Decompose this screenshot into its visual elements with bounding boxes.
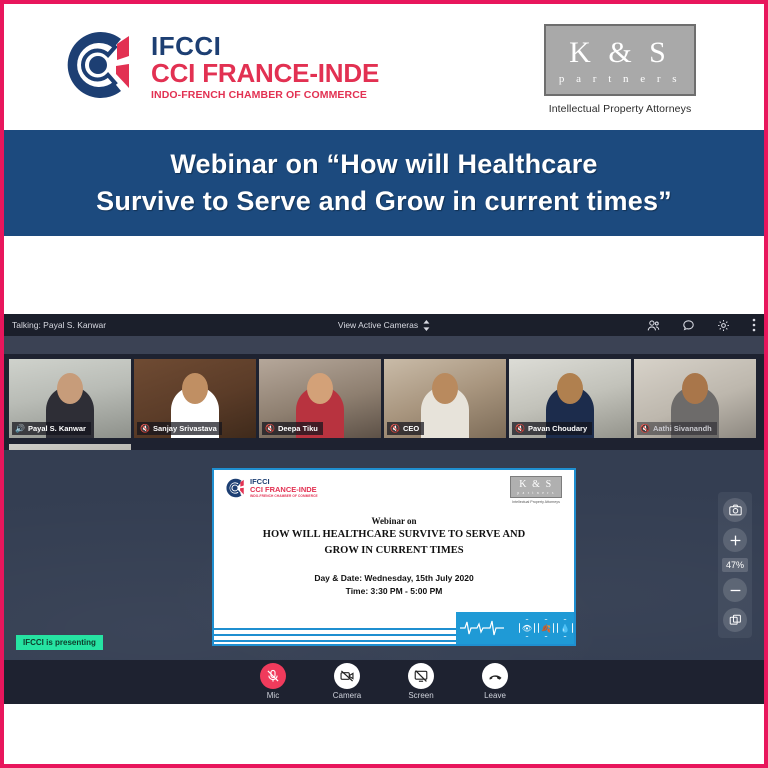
- zoom-level-label: 47%: [722, 558, 748, 572]
- slide-ifcci-circle-logo-icon: [224, 477, 246, 499]
- participant-name-tag-2: 🔇 Deepa Tiku: [262, 422, 323, 435]
- ifcci-circle-logo-icon: [59, 26, 137, 104]
- participant-tile-3[interactable]: 🔇 CEO: [384, 359, 506, 438]
- ifcci-line2: CCI FRANCE-INDE: [151, 60, 379, 87]
- ifcci-logo: IFCCI CCI FRANCE-INDE INDO-FRENCH CHAMBE…: [59, 26, 379, 104]
- participant-tile-2[interactable]: 🔇 Deepa Tiku: [259, 359, 381, 438]
- ifcci-line3: INDO-FRENCH CHAMBER OF COMMERCE: [151, 89, 379, 101]
- slide-ks-main: K & S: [519, 480, 553, 490]
- eye-icon: 👁: [519, 619, 535, 637]
- leave-label: Leave: [469, 691, 521, 700]
- page-root: IFCCI CCI FRANCE-INDE INDO-FRENCH CHAMBE…: [0, 0, 768, 768]
- banner-title-line1: Webinar on “How will Healthcare: [170, 147, 597, 182]
- slide-time-line: Time: 3:30 PM - 5:00 PM: [214, 585, 574, 598]
- ks-logo-main: K & S: [569, 38, 671, 68]
- white-spacer: [4, 236, 764, 314]
- slide-ifcci-line2: CCI FRANCE-INDE: [250, 486, 318, 494]
- person-head-1: [182, 373, 208, 404]
- participant-name-5: Aathi Sivanandh: [653, 424, 712, 433]
- zoom-in-button[interactable]: [723, 528, 747, 552]
- slide-ifcci-line3: INDO-FRENCH CHAMBER OF COMMERCE: [250, 494, 318, 498]
- snapshot-camera-icon[interactable]: [723, 498, 747, 522]
- camera-button[interactable]: Camera: [321, 663, 373, 700]
- ks-partners-logo: K & S p a r t n e r s Intellectual Prope…: [544, 24, 696, 115]
- view-active-cameras-dropdown[interactable]: View Active Cameras: [338, 320, 430, 331]
- slide-title-line2: GROW IN CURRENT TIMES: [214, 543, 574, 558]
- person-head-2: [307, 373, 333, 404]
- participant-name-2: Deepa Tiku: [278, 424, 318, 433]
- participant-tile-1[interactable]: 🔇 Sanjay Srivastava: [134, 359, 256, 438]
- slide-canvas: IFCCI CCI FRANCE-INDE INDO-FRENCH CHAMBE…: [214, 470, 574, 644]
- duplicate-window-icon[interactable]: [723, 608, 747, 632]
- ks-logo-caption: Intellectual Property Attorneys: [544, 103, 696, 115]
- mic-on-icon-0: 🔊: [15, 424, 25, 433]
- person-head-4: [557, 373, 583, 404]
- header-logos: IFCCI CCI FRANCE-INDE INDO-FRENCH CHAMBE…: [4, 4, 764, 130]
- person-head-5: [682, 373, 708, 404]
- ks-logo-sub: p a r t n e r s: [559, 73, 681, 85]
- slide-ks-sub: p a r t n e r s: [517, 491, 554, 495]
- participant-tile-0[interactable]: 🔊 Payal S. Kanwar: [9, 359, 131, 438]
- mic-muted-icon-1: 🔇: [140, 424, 150, 433]
- slide-ifcci-logo: IFCCI CCI FRANCE-INDE INDO-FRENCH CHAMBE…: [224, 477, 318, 499]
- ks-logo-box: K & S p a r t n e r s: [544, 24, 696, 96]
- chat-icon[interactable]: [682, 319, 695, 332]
- participant-name-tag-4: 🔇 Pavan Choudary: [512, 422, 592, 435]
- slide-ks-caption: Intellectual Property Attorneys: [510, 500, 562, 504]
- person-head-3: [432, 373, 458, 404]
- person-head-0: [57, 373, 83, 404]
- talking-status: Talking: Payal S. Kanwar: [12, 320, 106, 330]
- screen-share-icon: [408, 663, 434, 689]
- participant-name-4: Pavan Choudary: [528, 424, 587, 433]
- shared-slide[interactable]: IFCCI CCI FRANCE-INDE INDO-FRENCH CHAMBE…: [212, 468, 576, 646]
- presentation-stage: IFCCI CCI FRANCE-INDE INDO-FRENCH CHAMBE…: [4, 450, 764, 660]
- mic-muted-icon-3: 🔇: [390, 424, 400, 433]
- leaf-icon: 🍂: [538, 619, 554, 637]
- banner-title-line2: Survive to Serve and Grow in current tim…: [96, 184, 672, 219]
- participant-name-tag-3: 🔇 CEO: [387, 422, 424, 435]
- leave-button[interactable]: Leave: [469, 663, 521, 700]
- ifcci-line1: IFCCI: [151, 33, 379, 60]
- slide-title-line1: HOW WILL HEALTHCARE SURVIVE TO SERVE AND: [214, 527, 574, 542]
- participant-name-tag-1: 🔇 Sanjay Srivastava: [137, 422, 222, 435]
- zoom-out-button[interactable]: [723, 578, 747, 602]
- participant-tile-5[interactable]: 🔇 Aathi Sivanandh: [634, 359, 756, 438]
- slide-ks-logo: K & S p a r t n e r s Intellectual Prope…: [510, 476, 562, 504]
- participants-icon[interactable]: [647, 319, 660, 332]
- mic-button[interactable]: Mic: [247, 663, 299, 700]
- topbar-icon-group: [647, 318, 756, 332]
- view-active-cameras-label: View Active Cameras: [338, 320, 418, 330]
- footer-white-area: [4, 704, 764, 764]
- camera-off-icon: [334, 663, 360, 689]
- camera-label: Camera: [321, 691, 373, 700]
- conference-topbar: Talking: Payal S. Kanwar View Active Cam…: [4, 314, 764, 336]
- mic-label: Mic: [247, 691, 299, 700]
- participant-name-tag-5: 🔇 Aathi Sivanandh: [637, 422, 717, 435]
- slide-date-line: Day & Date: Wednesday, 15th July 2020: [214, 572, 574, 585]
- video-conference-window: Talking: Payal S. Kanwar View Active Cam…: [4, 314, 764, 704]
- webinar-title-banner: Webinar on “How will Healthcare Survive …: [4, 130, 764, 236]
- presenting-badge: IFCCI is presenting: [16, 635, 103, 650]
- more-options-icon[interactable]: [752, 318, 756, 332]
- screen-label: Screen: [395, 691, 447, 700]
- ecg-line-icon: [460, 619, 516, 637]
- chevron-updown-icon: [423, 320, 430, 331]
- topbar-divider-strip: [4, 336, 764, 354]
- participant-tile-4[interactable]: 🔇 Pavan Choudary: [509, 359, 631, 438]
- mic-muted-icon-2: 🔇: [265, 424, 275, 433]
- hangup-phone-icon: [482, 663, 508, 689]
- participant-name-1: Sanjay Srivastava: [153, 424, 217, 433]
- participant-name-tag-0: 🔊 Payal S. Kanwar: [12, 422, 91, 435]
- settings-gear-icon[interactable]: [717, 319, 730, 332]
- slide-ks-box: K & S p a r t n e r s: [510, 476, 562, 498]
- conference-control-bar: Mic Camera: [4, 660, 764, 704]
- screen-share-button[interactable]: Screen: [395, 663, 447, 700]
- slide-eyebrow: Webinar on: [214, 516, 574, 526]
- participant-tile-grid: 🔊 Payal S. Kanwar 🔇 Sanjay Srivastava: [9, 359, 761, 441]
- mic-muted-icon-4: 🔇: [515, 424, 525, 433]
- slide-body: Webinar on HOW WILL HEALTHCARE SURVIVE T…: [214, 516, 574, 598]
- participant-name-0: Payal S. Kanwar: [28, 424, 86, 433]
- drop-icon: 💧: [557, 619, 573, 637]
- stage-zoom-controls: 47%: [718, 492, 752, 638]
- mic-muted-icon: [260, 663, 286, 689]
- participant-name-3: CEO: [403, 424, 419, 433]
- mic-muted-icon-5: 🔇: [640, 424, 650, 433]
- slide-ecg-graphic: 👁 🍂 💧: [456, 612, 574, 644]
